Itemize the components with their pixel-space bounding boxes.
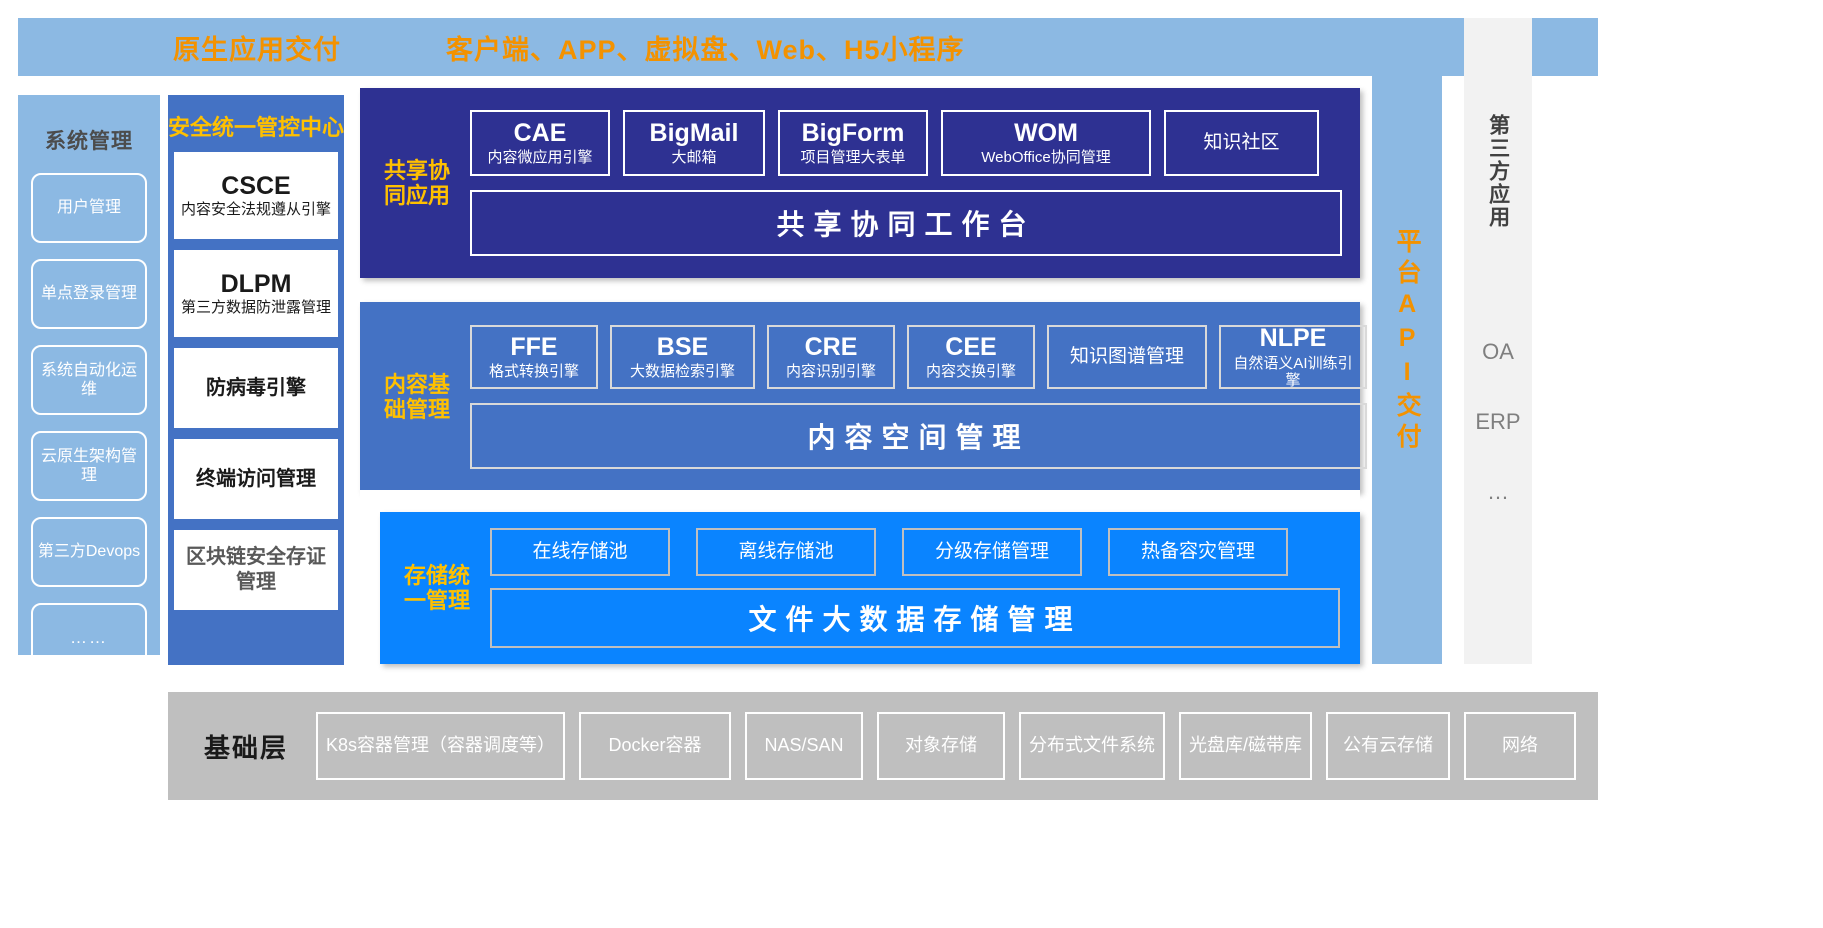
app-chip-wom-desc: WebOffice协同管理: [981, 149, 1110, 166]
security-item-csce-desc: 内容安全法规遵从引擎: [181, 201, 331, 219]
system-item-more[interactable]: ……: [31, 603, 147, 673]
layer-shared-collaboration-label: 共享协同应用: [374, 158, 460, 209]
engine-chip-cre-desc: 内容识别引擎: [786, 363, 876, 380]
storage-chip-offline-pool-label: 离线存储池: [738, 541, 833, 564]
engine-chip-ffe-code: FFE: [510, 334, 557, 362]
security-column-title: 安全统一管控中心: [168, 115, 344, 140]
system-management-column: 系统管理 用户管理 单点登录管理 系统自动化运维 云原生架构管理 第三方Devo…: [18, 95, 160, 655]
app-chip-bigmail-desc: 大邮箱: [671, 149, 716, 166]
system-item-automation-ops[interactable]: 系统自动化运维: [31, 345, 147, 415]
security-item-dlpm[interactable]: DLPM 第三方数据防泄露管理: [174, 250, 338, 337]
storage-chip-tiered-management-label: 分级存储管理: [935, 541, 1049, 564]
third-party-column-title: 第三方应用: [1484, 114, 1511, 229]
app-chip-wom[interactable]: WOM WebOffice协同管理: [941, 110, 1151, 176]
security-item-dlpm-code: DLPM: [221, 271, 292, 299]
platform-api-label: 平台API交付: [1389, 228, 1425, 454]
storage-chip-hot-backup-dr[interactable]: 热备容灾管理: [1108, 528, 1288, 576]
security-item-blockchain-evidence-label: 区块链安全存证管理: [178, 545, 334, 595]
app-chip-bigform-code: BigForm: [802, 120, 905, 148]
architecture-diagram: 原生应用交付 客户端、APP、虚拟盘、Web、H5小程序 系统管理 用户管理 单…: [0, 0, 1823, 928]
security-item-blockchain-evidence[interactable]: 区块链安全存证管理: [174, 530, 338, 610]
infra-chip-docker[interactable]: Docker容器: [579, 712, 731, 780]
shared-collaboration-chip-row: CAE 内容微应用引擎 BigMail 大邮箱 BigForm 项目管理大表单 …: [470, 110, 1342, 176]
third-party-item-more[interactable]: …: [1487, 479, 1509, 505]
system-item-user-management[interactable]: 用户管理: [31, 173, 147, 243]
engine-chip-nlpe-desc: 自然语义AI训练引擎: [1229, 355, 1357, 390]
app-chip-bigmail[interactable]: BigMail 大邮箱: [623, 110, 765, 176]
engine-chip-bse-code: BSE: [657, 334, 708, 362]
top-banner-left-label: 原生应用交付: [173, 28, 341, 67]
engine-chip-ffe[interactable]: FFE 格式转换引擎: [470, 325, 598, 389]
security-item-antivirus-engine-label: 防病毒引擎: [206, 376, 306, 401]
app-chip-bigmail-code: BigMail: [650, 120, 739, 148]
storage-chip-online-pool-label: 在线存储池: [532, 541, 627, 564]
security-control-column: 安全统一管控中心 CSCE 内容安全法规遵从引擎 DLPM 第三方数据防泄露管理…: [168, 95, 344, 665]
engine-chip-ffe-desc: 格式转换引擎: [489, 363, 579, 380]
app-chip-knowledge-community-label: 知识社区: [1203, 132, 1279, 155]
system-item-cloud-native-arch[interactable]: 云原生架构管理: [31, 431, 147, 501]
shared-collaboration-workbench-bar[interactable]: 共享协同工作台: [470, 190, 1342, 256]
layer-shared-collaboration: 共享协同应用 CAE 内容微应用引擎 BigMail 大邮箱 BigForm 项…: [360, 88, 1360, 278]
storage-chip-row: 在线存储池 离线存储池 分级存储管理 热备容灾管理: [490, 528, 1340, 576]
storage-chip-hot-backup-dr-label: 热备容灾管理: [1141, 541, 1255, 564]
app-chip-bigform[interactable]: BigForm 项目管理大表单: [778, 110, 928, 176]
security-item-terminal-access-label: 终端访问管理: [196, 467, 316, 492]
infrastructure-items: K8s容器管理（容器调度等） Docker容器 NAS/SAN 对象存储 分布式…: [316, 712, 1576, 780]
app-chip-cae[interactable]: CAE 内容微应用引擎: [470, 110, 610, 176]
security-item-csce-code: CSCE: [221, 173, 290, 201]
content-base-chip-row: FFE 格式转换引擎 BSE 大数据检索引擎 CRE 内容识别引擎 CEE 内容…: [470, 325, 1367, 389]
third-party-item-oa[interactable]: OA: [1482, 339, 1514, 365]
engine-chip-cre[interactable]: CRE 内容识别引擎: [767, 325, 895, 389]
app-chip-knowledge-community[interactable]: 知识社区: [1164, 110, 1319, 176]
engine-chip-bse[interactable]: BSE 大数据检索引擎: [610, 325, 755, 389]
third-party-item-erp[interactable]: ERP: [1475, 409, 1520, 435]
engine-chip-bse-desc: 大数据检索引擎: [630, 363, 735, 380]
layer-content-base-management: 内容基础管理 FFE 格式转换引擎 BSE 大数据检索引擎 CRE 内容识别引擎…: [360, 302, 1360, 492]
infra-chip-object-storage[interactable]: 对象存储: [877, 712, 1005, 780]
content-space-management-bar[interactable]: 内容空间管理: [470, 403, 1367, 469]
infra-chip-nas-san[interactable]: NAS/SAN: [745, 712, 863, 780]
engine-chip-cre-code: CRE: [805, 334, 858, 362]
infra-chip-public-cloud-storage[interactable]: 公有云存储: [1326, 712, 1450, 780]
system-item-third-party-devops[interactable]: 第三方Devops: [31, 517, 147, 587]
file-bigdata-storage-bar[interactable]: 文件大数据存储管理: [490, 588, 1340, 648]
engine-chip-cee-code: CEE: [945, 334, 996, 362]
storage-chip-offline-pool[interactable]: 离线存储池: [696, 528, 876, 576]
app-chip-wom-code: WOM: [1014, 120, 1078, 148]
infra-chip-distributed-fs[interactable]: 分布式文件系统: [1019, 712, 1165, 780]
infrastructure-layer: 基础层 K8s容器管理（容器调度等） Docker容器 NAS/SAN 对象存储…: [168, 692, 1598, 800]
storage-chip-online-pool[interactable]: 在线存储池: [490, 528, 670, 576]
top-banner: 原生应用交付 客户端、APP、虚拟盘、Web、H5小程序: [18, 18, 1598, 76]
infra-chip-k8s[interactable]: K8s容器管理（容器调度等）: [316, 712, 565, 780]
storage-chip-tiered-management[interactable]: 分级存储管理: [902, 528, 1082, 576]
third-party-application-column: 第三方应用 OA ERP …: [1464, 18, 1532, 664]
security-item-terminal-access[interactable]: 终端访问管理: [174, 439, 338, 519]
app-chip-cae-code: CAE: [514, 120, 567, 148]
layer-content-base-label: 内容基础管理: [374, 372, 460, 423]
engine-chip-cee-desc: 内容交换引擎: [926, 363, 1016, 380]
app-chip-cae-desc: 内容微应用引擎: [487, 149, 592, 166]
security-item-dlpm-desc: 第三方数据防泄露管理: [181, 299, 331, 317]
layer-storage-management: 存储统一管理 在线存储池 离线存储池 分级存储管理 热备容灾管理 文件大数据存储…: [380, 512, 1360, 664]
app-chip-bigform-desc: 项目管理大表单: [800, 149, 905, 166]
security-item-csce[interactable]: CSCE 内容安全法规遵从引擎: [174, 152, 338, 239]
layer-storage-label: 存储统一管理: [394, 563, 480, 614]
system-management-title: 系统管理: [45, 125, 133, 155]
system-item-sso-management[interactable]: 单点登录管理: [31, 259, 147, 329]
engine-chip-nlpe[interactable]: NLPE 自然语义AI训练引擎: [1219, 325, 1367, 389]
infrastructure-title: 基础层: [186, 728, 306, 765]
engine-chip-nlpe-code: NLPE: [1260, 325, 1327, 353]
engine-chip-knowledge-graph[interactable]: 知识图谱管理: [1047, 325, 1207, 389]
platform-api-column: 平台API交付: [1372, 18, 1442, 664]
engine-chip-cee[interactable]: CEE 内容交换引擎: [907, 325, 1035, 389]
infra-chip-network[interactable]: 网络: [1464, 712, 1576, 780]
top-banner-right-label: 客户端、APP、虚拟盘、Web、H5小程序: [446, 28, 965, 67]
infra-chip-optical-tape-library[interactable]: 光盘库/磁带库: [1179, 712, 1312, 780]
security-item-antivirus-engine[interactable]: 防病毒引擎: [174, 348, 338, 428]
engine-chip-knowledge-graph-label: 知识图谱管理: [1070, 346, 1184, 369]
